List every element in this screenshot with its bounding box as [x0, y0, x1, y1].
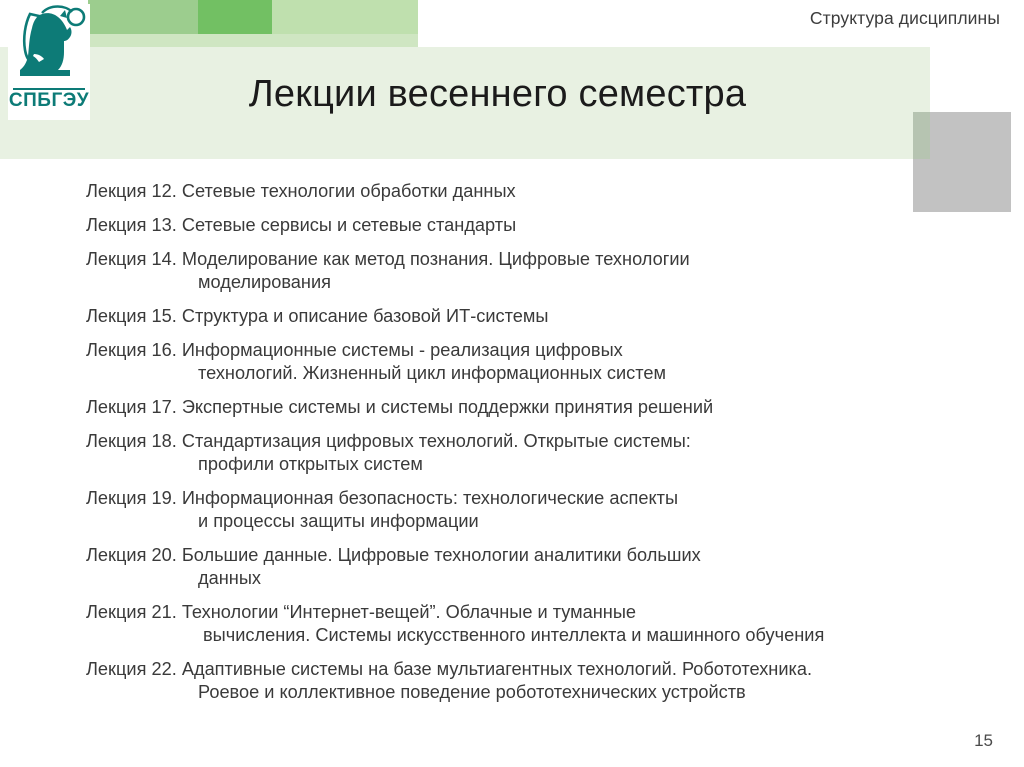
lecture-item: Лекция 15. Структура и описание базовой … [86, 305, 986, 328]
lecture-item: Лекция 16. Информационные системы - реал… [86, 339, 986, 385]
lecture-line-primary: Лекция 18. Стандартизация цифровых техно… [86, 430, 986, 453]
lecture-item: Лекция 19. Информационная безопасность: … [86, 487, 986, 533]
lecture-line-continuation: данных [86, 567, 986, 590]
lecture-item: Лекция 17. Экспертные системы и системы … [86, 396, 986, 419]
lecture-line-primary: Лекция 19. Информационная безопасность: … [86, 487, 986, 510]
lecture-line-primary: Лекция 16. Информационные системы - реал… [86, 339, 986, 362]
decorative-grey-square-overlap [913, 112, 930, 159]
lecture-line-continuation: профили открытых систем [86, 453, 986, 476]
lecture-line-primary: Лекция 12. Сетевые технологии обработки … [86, 180, 986, 203]
lecture-line-continuation: моделирования [86, 271, 986, 294]
lecture-item: Лекция 13. Сетевые сервисы и сетевые ста… [86, 214, 986, 237]
lecture-line-continuation: вычисления. Системы искусственного интел… [86, 624, 986, 647]
page-title: Лекции весеннего семестра [0, 73, 995, 116]
title-backdrop-accent [88, 34, 418, 47]
lecture-line-primary: Лекция 20. Большие данные. Цифровые техн… [86, 544, 986, 567]
lecture-line-primary: Лекция 13. Сетевые сервисы и сетевые ста… [86, 214, 986, 237]
header-caption: Структура дисциплины [810, 8, 1000, 29]
lecture-line-primary: Лекция 21. Технологии “Интернет-вещей”. … [86, 601, 986, 624]
lecture-item: Лекция 12. Сетевые технологии обработки … [86, 180, 986, 203]
lecture-line-continuation: Роевое и коллективное поведение робототе… [86, 681, 986, 704]
slide-canvas: СПБГЭУ Структура дисциплины Лекции весен… [0, 0, 1024, 767]
lecture-line-continuation: и процессы защиты информации [86, 510, 986, 533]
lecture-line-primary: Лекция 15. Структура и описание базовой … [86, 305, 986, 328]
lecture-line-primary: Лекция 14. Моделирование как метод позна… [86, 248, 986, 271]
page-number: 15 [974, 731, 993, 751]
lecture-item: Лекция 18. Стандартизация цифровых техно… [86, 430, 986, 476]
lecture-line-continuation: технологий. Жизненный цикл информационны… [86, 362, 986, 385]
lecture-item: Лекция 14. Моделирование как метод позна… [86, 248, 986, 294]
lecture-line-primary: Лекция 17. Экспертные системы и системы … [86, 396, 986, 419]
logo-wordmark: СПБГЭУ [8, 90, 90, 112]
lecture-item: Лекция 21. Технологии “Интернет-вещей”. … [86, 601, 986, 647]
griffin-logo-icon [8, 4, 90, 90]
lecture-line-primary: Лекция 22. Адаптивные системы на базе му… [86, 658, 986, 681]
lecture-item: Лекция 22. Адаптивные системы на базе му… [86, 658, 986, 704]
lecture-item: Лекция 20. Большие данные. Цифровые техн… [86, 544, 986, 590]
lecture-list: Лекция 12. Сетевые технологии обработки … [86, 180, 986, 715]
university-logo: СПБГЭУ [8, 4, 90, 120]
